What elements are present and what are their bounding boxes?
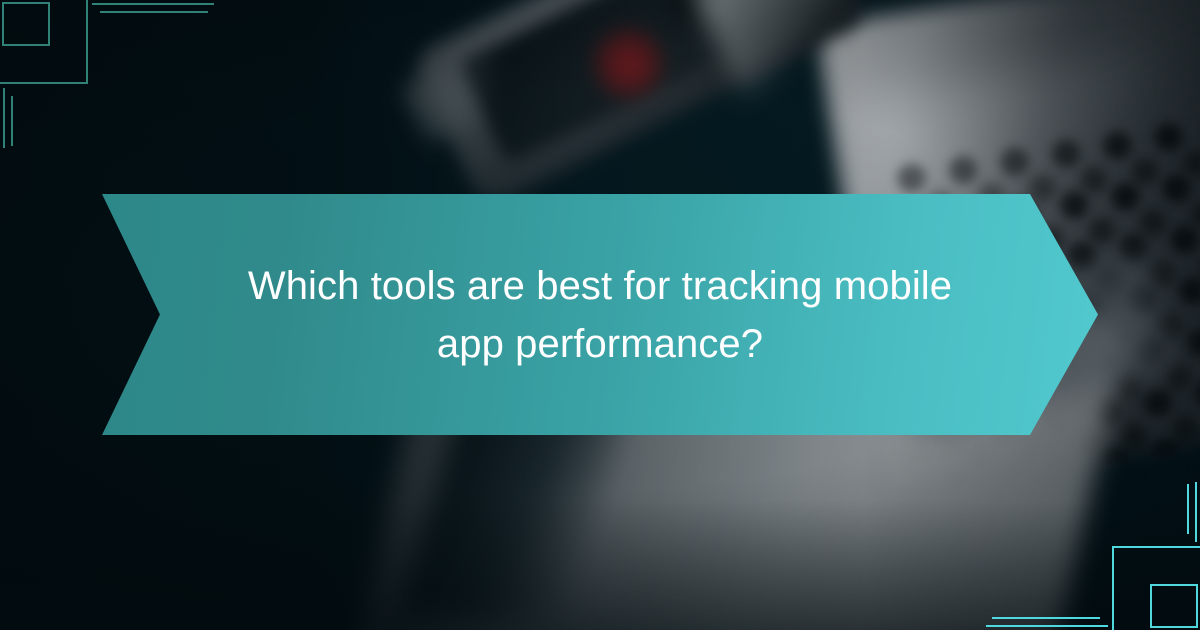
page-title: Which tools are best for tracking mobile… [145,257,1055,373]
photo-bottom-fade [0,500,1200,630]
headline-banner: Which tools are best for tracking mobile… [102,194,1098,435]
banner-canvas: Which tools are best for tracking mobile… [0,0,1200,630]
